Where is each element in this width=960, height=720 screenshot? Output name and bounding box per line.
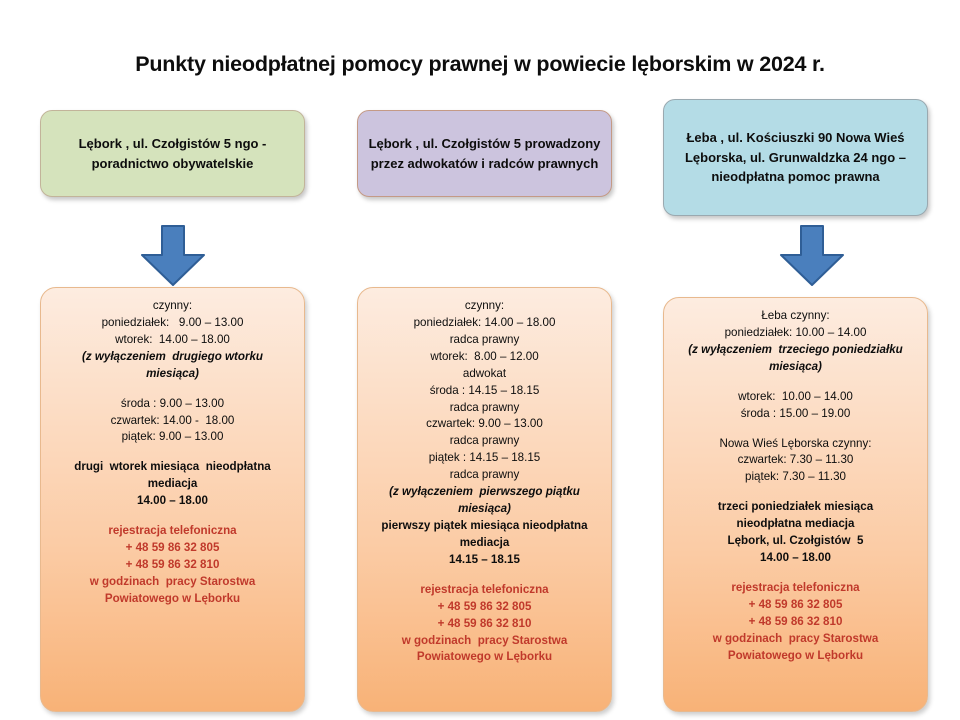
schedule-line: radca prawny — [366, 400, 603, 417]
schedule-line: + 48 59 86 32 805 — [49, 540, 296, 557]
schedule-line: czwartek: 9.00 – 13.00 — [366, 416, 603, 433]
schedule-line: 14.00 – 18.00 — [672, 550, 919, 567]
schedule-line: piątek: 7.30 – 11.30 — [672, 469, 919, 486]
line-spacer — [49, 446, 296, 459]
schedule-line: + 48 59 86 32 805 — [366, 599, 603, 616]
schedule-line: + 48 59 86 32 810 — [49, 557, 296, 574]
schedule-line: wtorek: 8.00 – 12.00 — [366, 349, 603, 366]
line-spacer — [672, 486, 919, 499]
schedule-line: miesiąca) — [49, 366, 296, 383]
schedule-line: radca prawny — [366, 433, 603, 450]
schedule-line: Powiatowego w Lęborku — [366, 649, 603, 666]
schedule-line: adwokat — [366, 366, 603, 383]
down-arrow-icon — [138, 225, 208, 287]
slide-canvas: Punkty nieodpłatnej pomocy prawnej w pow… — [0, 0, 960, 720]
schedule-line: (z wyłączeniem pierwszego piątku — [366, 484, 603, 501]
schedule-line: czwartek: 7.30 – 11.30 — [672, 452, 919, 469]
schedule-lines: czynny:poniedziałek: 9.00 – 13.00wtorek:… — [49, 298, 296, 608]
schedule-line: + 48 59 86 32 810 — [672, 614, 919, 631]
header-box-lebork-ngo: Lębork , ul. Czołgistów 5 ngo -poradnict… — [40, 110, 305, 197]
line-spacer — [49, 510, 296, 523]
column-leba-nowa-wies: Łeba , ul. Kościuszki 90 Nowa Wieś Lębor… — [663, 0, 928, 720]
line-spacer — [672, 376, 919, 389]
schedule-line: 14.00 – 18.00 — [49, 493, 296, 510]
schedule-line: w godzinach pracy Starostwa — [49, 574, 296, 591]
schedule-line: mediacja — [49, 476, 296, 493]
schedule-line: Łeba czynny: — [672, 308, 919, 325]
schedule-line: czynny: — [366, 298, 603, 315]
schedule-line: piątek: 9.00 – 13.00 — [49, 429, 296, 446]
schedule-lines: czynny:poniedziałek: 14.00 – 18.00radca … — [366, 298, 603, 666]
schedule-line: poniedziałek: 14.00 – 18.00 — [366, 315, 603, 332]
schedule-line: czynny: — [49, 298, 296, 315]
schedule-line: Nowa Wieś Lęborska czynny: — [672, 436, 919, 453]
schedule-line: wtorek: 10.00 – 14.00 — [672, 389, 919, 406]
schedule-line: rejestracja telefoniczna — [366, 582, 603, 599]
schedule-line: poniedziałek: 9.00 – 13.00 — [49, 315, 296, 332]
schedule-line: środa : 9.00 – 13.00 — [49, 396, 296, 413]
schedule-line: + 48 59 86 32 810 — [366, 616, 603, 633]
schedule-line: rejestracja telefoniczna — [49, 523, 296, 540]
line-spacer — [672, 423, 919, 436]
schedule-line: mediacja — [366, 535, 603, 552]
body-panel-lebork-ngo: czynny:poniedziałek: 9.00 – 13.00wtorek:… — [40, 287, 305, 712]
schedule-line: w godzinach pracy Starostwa — [672, 631, 919, 648]
body-panel-lebork-adwokaci: czynny:poniedziałek: 14.00 – 18.00radca … — [357, 287, 612, 712]
schedule-line: środa : 15.00 – 19.00 — [672, 406, 919, 423]
schedule-line: w godzinach pracy Starostwa — [366, 633, 603, 650]
schedule-line: wtorek: 14.00 – 18.00 — [49, 332, 296, 349]
schedule-line: Powiatowego w Lęborku — [49, 591, 296, 608]
schedule-line: trzeci poniedziałek miesiąca — [672, 499, 919, 516]
header-box-leba-nowa-wies: Łeba , ul. Kościuszki 90 Nowa Wieś Lębor… — [663, 99, 928, 216]
schedule-line: środa : 14.15 – 18.15 — [366, 383, 603, 400]
schedule-line: (z wyłączeniem trzeciego poniedziałku — [672, 342, 919, 359]
schedule-line: drugi wtorek miesiąca nieodpłatna — [49, 459, 296, 476]
schedule-line: rejestracja telefoniczna — [672, 580, 919, 597]
schedule-line: pierwszy piątek miesiąca nieodpłatna — [366, 518, 603, 535]
column-lebork-adwokaci: Lębork , ul. Czołgistów 5 prowadzony prz… — [357, 0, 612, 720]
line-spacer — [672, 567, 919, 580]
line-spacer — [366, 569, 603, 582]
schedule-line: Powiatowego w Lęborku — [672, 648, 919, 665]
schedule-line: Lębork, ul. Czołgistów 5 — [672, 533, 919, 550]
schedule-line: miesiąca) — [672, 359, 919, 376]
schedule-line: nieodpłatna mediacja — [672, 516, 919, 533]
column-lebork-ngo: Lębork , ul. Czołgistów 5 ngo -poradnict… — [40, 0, 305, 720]
schedule-line: radca prawny — [366, 467, 603, 484]
schedule-line: + 48 59 86 32 805 — [672, 597, 919, 614]
schedule-lines: Łeba czynny:poniedziałek: 10.00 – 14.00(… — [672, 308, 919, 665]
schedule-line: piątek : 14.15 – 18.15 — [366, 450, 603, 467]
schedule-line: radca prawny — [366, 332, 603, 349]
schedule-line: czwartek: 14.00 - 18.00 — [49, 413, 296, 430]
schedule-line: (z wyłączeniem drugiego wtorku — [49, 349, 296, 366]
schedule-line: miesiąca) — [366, 501, 603, 518]
body-panel-leba-nowa-wies: Łeba czynny:poniedziałek: 10.00 – 14.00(… — [663, 297, 928, 712]
schedule-line: 14.15 – 18.15 — [366, 552, 603, 569]
schedule-line: poniedziałek: 10.00 – 14.00 — [672, 325, 919, 342]
header-box-lebork-adwokaci: Lębork , ul. Czołgistów 5 prowadzony prz… — [357, 110, 612, 197]
line-spacer — [49, 383, 296, 396]
